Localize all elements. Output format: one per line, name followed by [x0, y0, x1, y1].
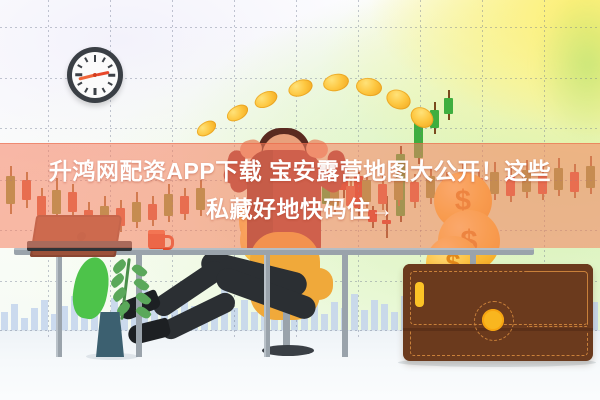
- wallet-clasp-button: [482, 309, 504, 331]
- headline-band-top-edge: [0, 143, 600, 144]
- headline-line-1: 升鸿网配资APP下载 宝安露营地图大公开！这些: [49, 158, 551, 184]
- page-title: 升鸿网配资APP下载 宝安露营地图大公开！这些 私藏好地快码住→: [0, 152, 600, 228]
- wallet-right-stitching: [527, 271, 588, 327]
- headline-line-2: 私藏好地快码住→: [0, 190, 600, 228]
- banner-image: $$$: [0, 0, 600, 400]
- wallet-card-tab: [415, 282, 424, 307]
